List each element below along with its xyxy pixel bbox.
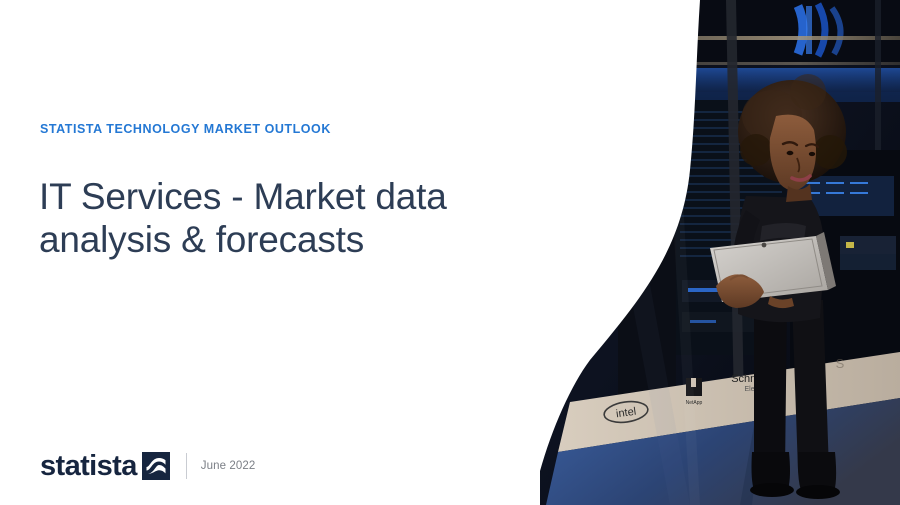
footer-divider	[186, 453, 187, 479]
page-title-line-1: IT Services - Market data	[39, 175, 509, 218]
eyebrow-kicker: STATISTA TECHNOLOGY MARKET OUTLOOK	[40, 122, 331, 136]
hero-photo: intel NetApp Schneider Electric S	[540, 0, 900, 505]
statista-logo[interactable]: statista	[40, 452, 170, 481]
data-center-photo-illustration: intel NetApp Schneider Electric S	[540, 0, 900, 505]
svg-text:S: S	[836, 356, 845, 371]
page-title-line-2: analysis & forecasts	[39, 218, 509, 261]
slide-root: intel NetApp Schneider Electric S	[0, 0, 900, 505]
statista-wordmark: statista	[40, 452, 137, 481]
page-title: IT Services - Market data analysis & for…	[39, 175, 509, 261]
footer: statista June 2022	[40, 449, 255, 483]
statista-wave-mark-icon	[142, 452, 170, 480]
publication-date: June 2022	[201, 460, 256, 472]
